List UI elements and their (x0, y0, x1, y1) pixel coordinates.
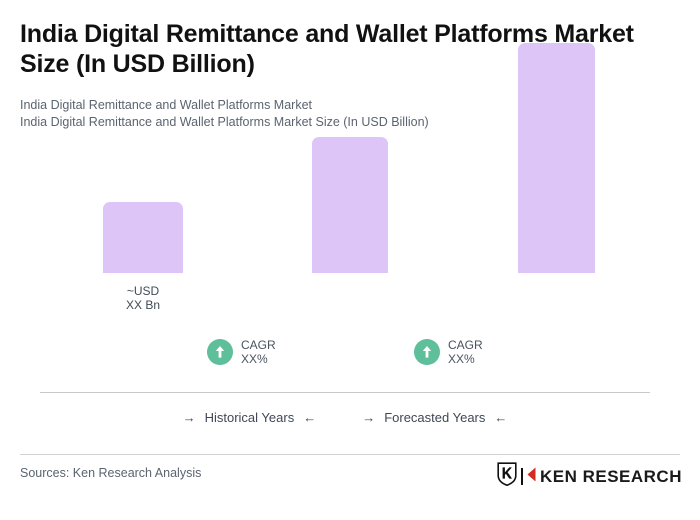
axis-baseline (40, 392, 650, 393)
cagr-annotation-1: CAGR XX% (207, 338, 276, 366)
chart-page: India Digital Remittance and Wallet Plat… (0, 0, 700, 520)
arrow-up-icon (414, 339, 440, 365)
logo-wordmark: KEN RESEARCH (540, 467, 682, 487)
ken-research-shield-icon (497, 462, 517, 491)
brand-logo: KEN RESEARCH (497, 462, 682, 491)
footer-divider (20, 454, 680, 455)
cagr-label-1: CAGR XX% (241, 338, 276, 366)
legend-item-historical-years: → Historical Years ← (183, 410, 317, 425)
period-legend: → Historical Years ← → Forecasted Years … (40, 410, 650, 425)
arrow-right-icon: → (183, 411, 196, 424)
cagr-annotation-2: CAGR XX% (414, 338, 483, 366)
sources-text: Sources: Ken Research Analysis (20, 466, 201, 480)
arrow-right-icon: → (362, 411, 375, 424)
chart-plot-area: ~USD XX Bn CAGR XX% ~USD 1.6 Bn CAGR XX% (0, 0, 700, 400)
logo-separator (521, 468, 523, 485)
bar-3[interactable] (518, 43, 595, 273)
cagr-label-2: CAGR XX% (448, 338, 483, 366)
arrow-up-icon (207, 339, 233, 365)
bar-2[interactable] (312, 137, 388, 273)
logo-accent-icon (527, 467, 536, 487)
legend-item-forecasted-years: → Forecasted Years ← (362, 410, 507, 425)
arrow-left-icon: ← (494, 411, 507, 424)
legend-label-forecasted-years: Forecasted Years (384, 410, 485, 425)
bar-1[interactable] (103, 202, 183, 273)
arrow-left-icon: ← (303, 411, 316, 424)
legend-label-historical-years: Historical Years (205, 410, 295, 425)
bar-value-label-1: ~USD XX Bn (103, 284, 183, 312)
